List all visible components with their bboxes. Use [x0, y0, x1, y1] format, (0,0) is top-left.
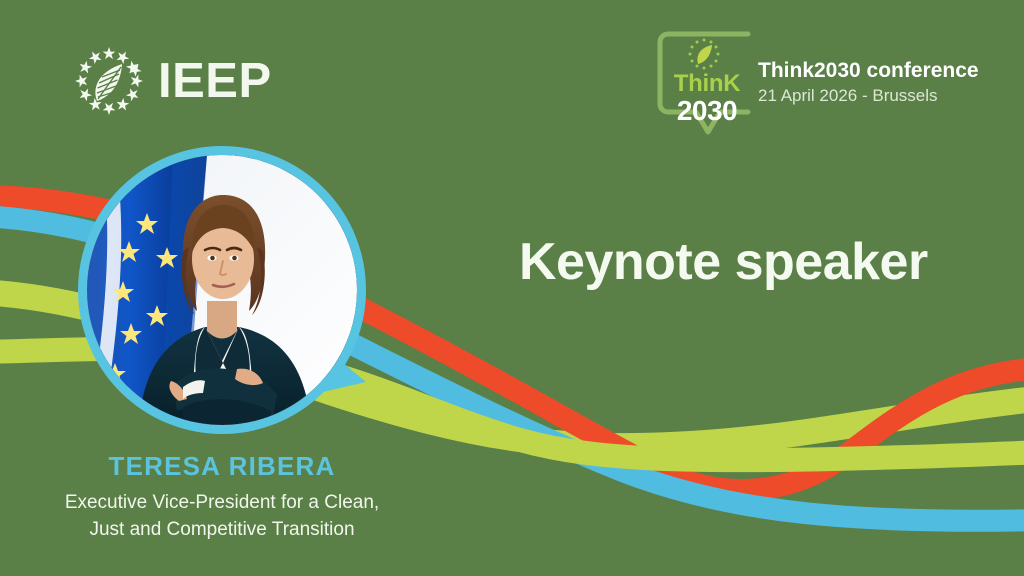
think2030-word-year: 2030 [664, 96, 750, 125]
event-info: Think2030 conference 21 April 2026 - Bru… [758, 30, 979, 108]
event-title: Think2030 conference [758, 58, 979, 83]
think2030-lockup: ThinK 2030 Think2030 conference 21 April… [656, 30, 979, 138]
speaker-portrait [78, 146, 366, 434]
speaker-role: Executive Vice-President for a Clean, Ju… [0, 489, 444, 544]
ieep-wordmark: IEEP [158, 57, 272, 106]
keynote-speaker-slide: IEEP [0, 0, 1024, 576]
speaker-name: TERESA RIBERA [0, 452, 444, 482]
think2030-logo: ThinK 2030 [656, 30, 752, 138]
leaf-in-eu-stars-icon [72, 44, 146, 118]
speaker-caption: TERESA RIBERA Executive Vice-President f… [0, 452, 444, 544]
ieep-logo: IEEP [72, 44, 272, 118]
speaker-role-line1: Executive Vice-President for a Clean, [0, 489, 444, 517]
think2030-word-think: ThinK [664, 72, 750, 96]
page-title: Keynote speaker [519, 236, 928, 288]
leaf-in-dotted-circle-icon [689, 39, 720, 70]
event-date-location: 21 April 2026 - Brussels [758, 85, 979, 108]
speaker-role-line2: Just and Competitive Transition [0, 516, 444, 544]
avatar [78, 146, 366, 434]
